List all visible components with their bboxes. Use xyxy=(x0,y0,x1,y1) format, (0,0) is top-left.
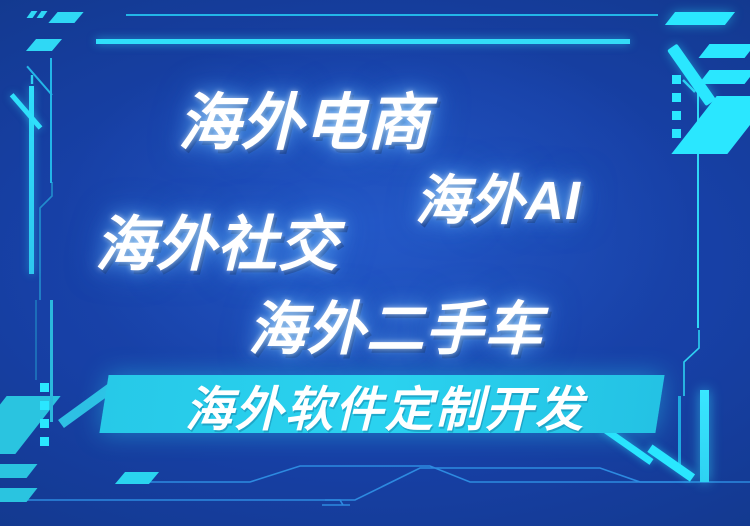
dot-marker-group-right xyxy=(672,75,681,138)
corner-top-right-stripe-1 xyxy=(699,44,750,58)
circuit-trace-4 xyxy=(325,500,343,505)
circuit-trace-6 xyxy=(40,182,52,300)
corner-bottom-left-vertical xyxy=(50,300,53,422)
dot-marker xyxy=(40,437,49,446)
frame-right-glow-bar xyxy=(700,390,709,482)
corner-bottom-left-stripe-2 xyxy=(0,464,37,478)
dot-marker xyxy=(672,75,681,84)
dot-marker xyxy=(40,419,49,428)
frame-top-hairline xyxy=(126,14,658,16)
banner-label: 海外软件定制开发 xyxy=(130,380,640,430)
dot-marker xyxy=(672,93,681,102)
frame-left-hairline xyxy=(50,58,52,183)
corner-bottom-left-stripe-3 xyxy=(0,488,37,502)
headline-overseas-ai: 海外AI xyxy=(415,156,581,235)
corner-bottom-left-chip xyxy=(115,472,159,484)
tech-poster: 海外电商 海外AI 海外社交 海外二手车 海外软件定制开发 xyxy=(0,0,750,526)
corner-top-left-chip-2 xyxy=(48,12,83,23)
headline-overseas-social: 海外社交 xyxy=(95,196,339,283)
corner-top-right-bar xyxy=(665,12,735,25)
corner-top-left-chip-1 xyxy=(26,39,62,51)
circuit-trace-5 xyxy=(684,330,699,396)
corner-top-right-stripe-2 xyxy=(699,70,750,84)
corner-bottom-right-vertical xyxy=(678,396,681,468)
corner-bottom-right-diagonal-2 xyxy=(647,444,695,481)
corner-top-right-stripe-3 xyxy=(671,96,750,154)
corner-top-left-tick-2 xyxy=(37,11,48,18)
dot-marker xyxy=(672,111,681,120)
frame-top-glow-bar xyxy=(96,39,630,44)
circuit-trace-1 xyxy=(128,466,690,482)
dot-marker xyxy=(40,401,49,410)
headline-overseas-used-car: 海外二手车 xyxy=(248,282,543,366)
corner-top-left-diagonal-bold xyxy=(10,93,43,129)
circuit-trace-2 xyxy=(0,468,750,500)
dot-marker xyxy=(672,129,681,138)
dot-marker xyxy=(40,383,49,392)
headline-overseas-ecommerce: 海外电商 xyxy=(178,72,430,162)
dot-marker-group-left xyxy=(40,383,49,446)
